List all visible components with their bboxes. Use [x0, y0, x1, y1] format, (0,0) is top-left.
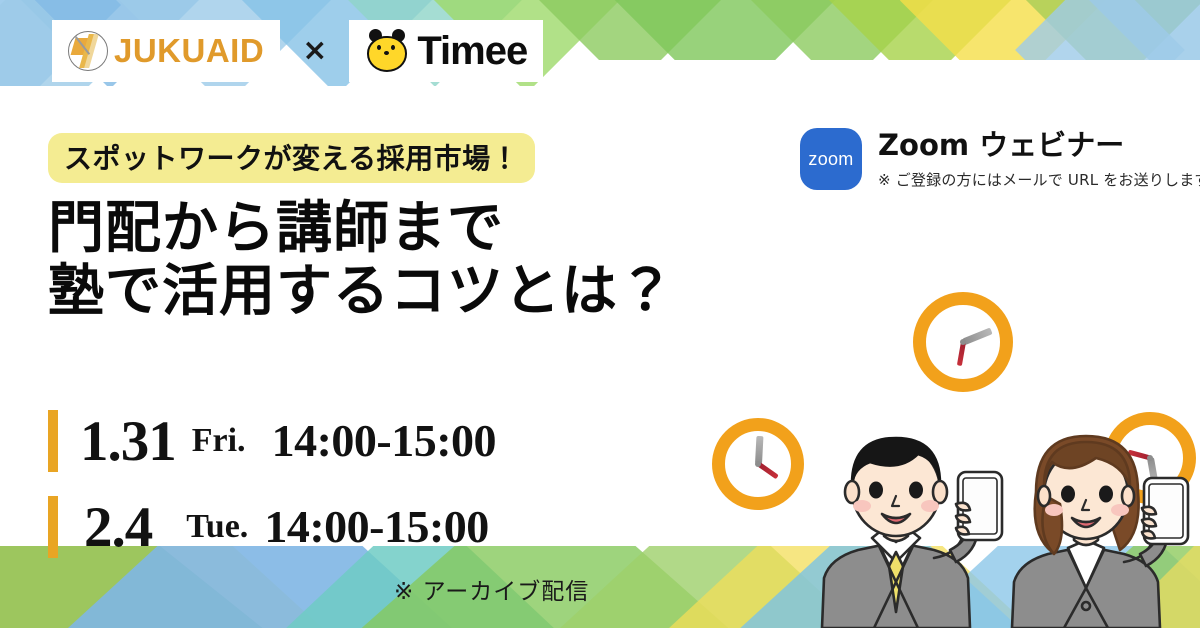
schedule-session-2: 2.4 Tue. 14:00-15:00: [48, 484, 589, 570]
jukuaid-logo[interactable]: JUKUAID: [52, 20, 280, 82]
zoom-webinar-title: Zoom ウェビナー: [878, 130, 1200, 162]
headline: 門配から講師まで 塾で活用するコツとは？: [48, 198, 675, 323]
schedule-list: 1.31 Fri. 14:00-15:00 2.4 Tue. 14:00-15:…: [48, 398, 589, 606]
session-accent-bar: [48, 496, 58, 558]
subtitle-banner: スポットワークが変える採用市場！: [48, 133, 535, 183]
timee-logo[interactable]: Timee: [349, 20, 543, 82]
session-2-weekday: Tue.: [186, 510, 248, 544]
headline-line-1: 門配から講師まで: [48, 198, 675, 261]
logo-bar: JUKUAID × Timee: [52, 20, 543, 82]
zoom-icon-label: zoom: [808, 149, 853, 170]
webinar-promo-banner: JUKUAID × Timee スポットワークが変える採用市場！ 門配から講師ま…: [0, 0, 1200, 628]
zoom-webinar-badge: zoom Zoom ウェビナー ※ ご登録の方にはメールで URL をお送りしま…: [800, 128, 1200, 190]
jukuaid-wordmark: JUKUAID: [114, 32, 264, 70]
session-accent-bar: [48, 410, 58, 472]
session-1-weekday: Fri.: [192, 424, 246, 458]
business-people-illustration: [800, 430, 1200, 628]
collaboration-cross-icon: ×: [302, 36, 327, 66]
content-plate-extension: [560, 60, 1200, 100]
clock-top-right-icon: [913, 292, 1013, 392]
timee-wordmark: Timee: [417, 29, 527, 74]
headline-line-2: 塾で活用するコツとは？: [48, 261, 675, 324]
subtitle-text: スポットワークが変える採用市場！: [64, 137, 519, 177]
zoom-registration-note: ※ ご登録の方にはメールで URL をお送りします: [878, 169, 1200, 190]
schedule-session-1: 1.31 Fri. 14:00-15:00: [48, 398, 589, 484]
session-1-time: 14:00-15:00: [272, 418, 496, 464]
jukuaid-mark-icon: [68, 31, 108, 71]
zoom-badge-texts: Zoom ウェビナー ※ ご登録の方にはメールで URL をお送りします: [878, 128, 1200, 190]
subtitle-highlight: スポットワークが変える採用市場！: [48, 133, 535, 183]
session-2-date: 2.4: [84, 499, 152, 556]
clock-mid-left-icon: [712, 418, 804, 510]
timee-bear-icon: [365, 29, 409, 73]
session-1-date: 1.31: [80, 413, 176, 470]
session-2-time: 14:00-15:00: [264, 504, 488, 550]
archive-note: ※ アーカイブ配信: [394, 572, 589, 606]
zoom-app-icon: zoom: [800, 128, 862, 190]
